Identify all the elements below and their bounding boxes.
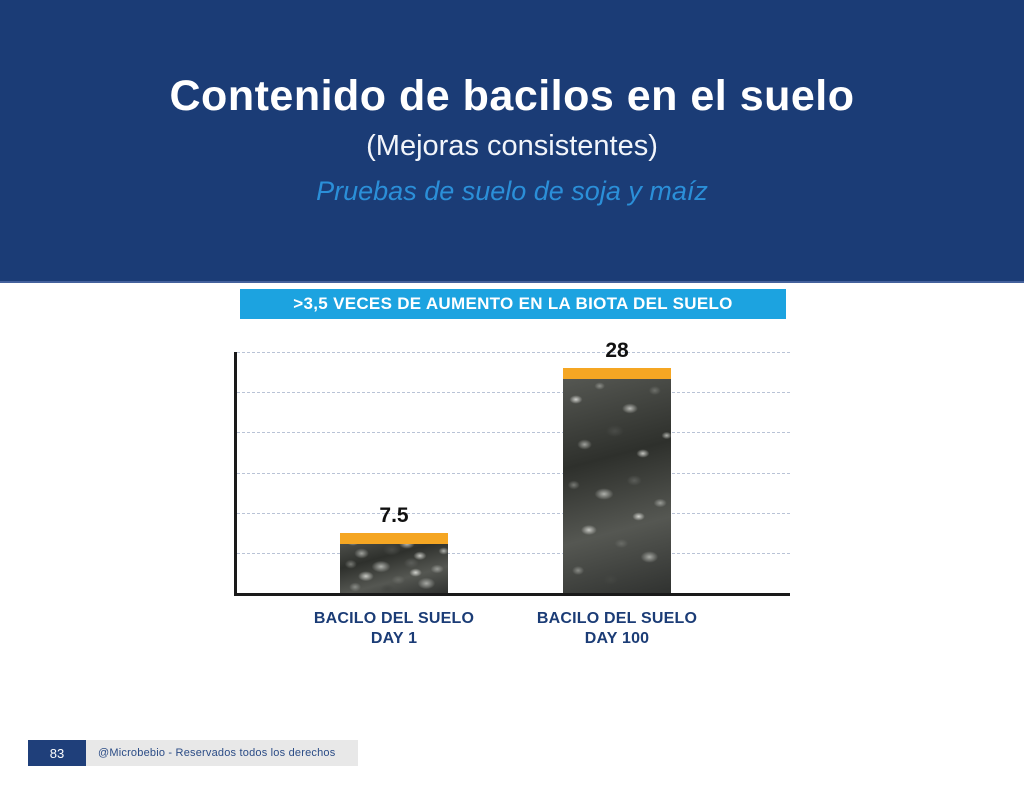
x-axis-category-line: DAY 1: [284, 629, 504, 649]
bar-cap: [563, 368, 671, 379]
x-axis-category-label: BACILO DEL SUELODAY 1: [284, 609, 504, 649]
x-axis-category-line: DAY 100: [507, 629, 727, 649]
bar-value-label: 28: [547, 339, 687, 363]
footer-copyright: @Microbebio - Reservados todos los derec…: [98, 740, 335, 766]
chart-plot-area: 302520151050: [234, 352, 790, 593]
x-axis-category-line: BACILO DEL SUELO: [284, 609, 504, 629]
gridline: [237, 473, 790, 474]
page-tagline: Pruebas de suelo de soja y maíz: [0, 177, 1024, 207]
gridline: [237, 513, 790, 514]
x-axis-category-label: BACILO DEL SUELODAY 100: [507, 609, 727, 649]
footer-page-number: 83: [28, 740, 86, 766]
bar: [340, 533, 448, 593]
x-axis-line: [234, 593, 790, 596]
gridline: [237, 553, 790, 554]
gridline: [237, 432, 790, 433]
chart-banner: >3,5 VECES DE AUMENTO EN LA BIOTA DEL SU…: [240, 289, 786, 319]
gridline: [237, 392, 790, 393]
bar: [563, 368, 671, 593]
bar-value-label: 7.5: [324, 504, 464, 528]
page-subtitle: (Mejoras consistentes): [0, 131, 1024, 163]
page-title: Contenido de bacilos en el suelo: [0, 74, 1024, 119]
bar-cap: [340, 533, 448, 544]
gridline: [237, 352, 790, 353]
x-axis-category-line: BACILO DEL SUELO: [507, 609, 727, 629]
bar-chart: 302520151050 7.528 BACILO DEL SUELODAY 1…: [0, 330, 1024, 670]
chart-banner-label: >3,5 VECES DE AUMENTO EN LA BIOTA DEL SU…: [293, 294, 732, 314]
